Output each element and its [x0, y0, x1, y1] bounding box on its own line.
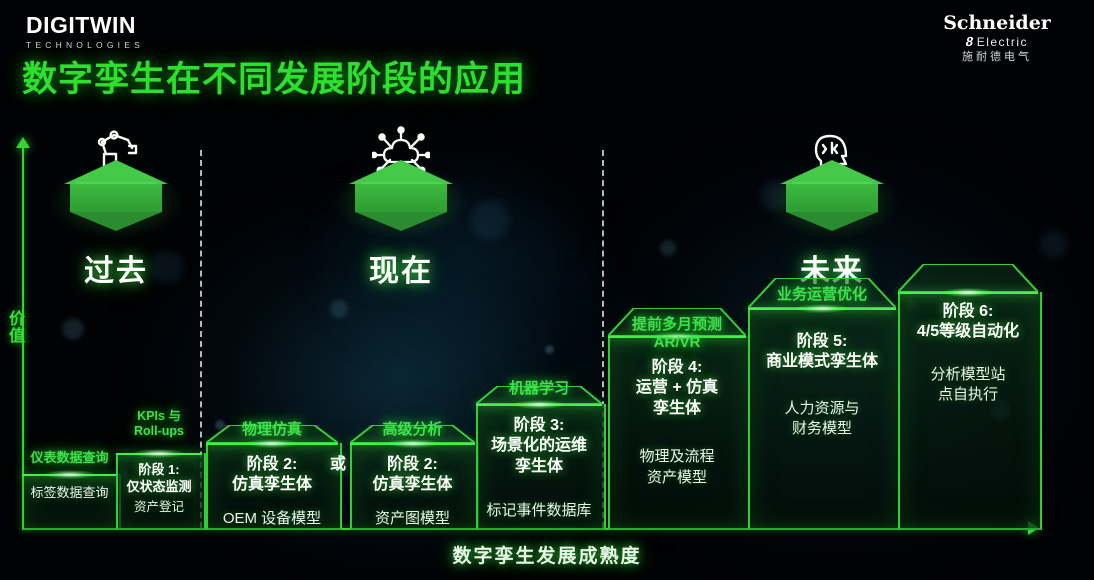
- step-header-label: KPIs 与Roll-ups: [116, 409, 202, 439]
- step-title: 阶段 2:仿真孪生体: [356, 455, 469, 496]
- bokeh-particle: [660, 240, 676, 256]
- step-subtext: 标记事件数据库: [482, 501, 596, 521]
- or-connector: 或: [330, 450, 346, 474]
- bokeh-particle: [545, 345, 554, 354]
- step-subtext: 人力资源与财务模型: [754, 399, 890, 440]
- step-baseline[interactable]: 仪表数据查询 标签数据查询: [22, 460, 117, 528]
- schneider-slash-icon: 8: [965, 35, 976, 48]
- bokeh-particle: [1040, 230, 1068, 258]
- era-cube-present: [349, 160, 453, 232]
- step-rim: [206, 443, 338, 445]
- value-axis-label: 价值: [6, 312, 28, 346]
- maturity-axis-label: 数字孪生发展成熟度: [0, 541, 1094, 568]
- step-rim: [476, 404, 602, 406]
- era-past: 过去: [64, 160, 168, 290]
- step-face: [22, 474, 121, 530]
- step-header-label: 业务运营优化: [748, 286, 896, 304]
- bokeh-particle: [62, 318, 84, 340]
- digitwin-logo: DIGITWIN TECHNOLOGIES: [26, 14, 144, 50]
- step-header-label: 物理仿真: [206, 421, 338, 439]
- step-body: 阶段 2:仿真孪生体 资产图模型: [350, 455, 475, 529]
- era-label-present: 现在: [349, 246, 453, 290]
- cube-top: [349, 160, 453, 184]
- step-header-label: 仪表数据查询: [22, 450, 117, 466]
- logo-wordmark: DIGITWIN: [26, 14, 144, 37]
- step-title: 阶段 6:4/5等级自动化: [904, 302, 1032, 343]
- step-body: 阶段 3:场景化的运维孪生体 标记事件数据库: [476, 416, 602, 522]
- schneider-electric-logo: Schneider 8Electric 施耐德电气: [922, 14, 1072, 63]
- step-5[interactable]: 提前多月预测AR/VR 阶段 4:运营 + 仿真孪生体 物理及流程资产模型: [608, 308, 746, 528]
- step-title: 阶段 3:场景化的运维孪生体: [482, 416, 596, 477]
- logo-tagline: TECHNOLOGIES: [26, 41, 144, 50]
- step-3[interactable]: 高级分析 阶段 2:仿真孪生体 资产图模型: [350, 425, 475, 528]
- era-future: 未来: [780, 160, 884, 290]
- step-6[interactable]: 业务运营优化 阶段 5:商业模式孪生体 人力资源与财务模型: [748, 278, 896, 528]
- electric-wordmark: 8Electric: [922, 35, 1072, 48]
- cube-body: [786, 184, 878, 212]
- bokeh-particle: [470, 200, 510, 240]
- schneider-chinese-name: 施耐德电气: [922, 52, 1072, 63]
- step-rim: [116, 453, 202, 455]
- bokeh-particle: [330, 300, 348, 318]
- cube-top: [780, 160, 884, 184]
- step-body: 标签数据查询: [22, 484, 117, 502]
- slide-canvas: DIGITWIN TECHNOLOGIES Schneider 8Electri…: [0, 0, 1094, 580]
- step-title: 阶段 4:运营 + 仿真孪生体: [614, 358, 740, 419]
- step-body: 阶段 6:4/5等级自动化 分析模型站点自执行: [898, 302, 1038, 405]
- step-2[interactable]: 物理仿真 阶段 2:仿真孪生体 OEM 设备模型: [206, 425, 338, 528]
- cube-top: [64, 160, 168, 184]
- cube-bottom: [355, 212, 447, 231]
- era-label-past: 过去: [64, 246, 168, 290]
- era-cube-past: [64, 160, 168, 232]
- step-title: 阶段 1:仅状态监测: [122, 462, 196, 495]
- era-cube-future: [780, 160, 884, 232]
- era-present: 现在: [349, 160, 453, 290]
- value-axis-arrow-icon: [16, 137, 30, 148]
- step-rim: [22, 474, 117, 476]
- schneider-wordmark: Schneider: [922, 14, 1072, 33]
- cube-body: [70, 184, 162, 212]
- step-body: 阶段 2:仿真孪生体 OEM 设备模型: [206, 455, 338, 529]
- step-title: 阶段 2:仿真孪生体: [212, 455, 332, 496]
- background-glow-center: [300, 130, 620, 390]
- step-4[interactable]: 机器学习 阶段 3:场景化的运维孪生体 标记事件数据库: [476, 386, 602, 528]
- step-subtext: OEM 设备模型: [212, 509, 332, 529]
- step-header-label: 高级分析: [350, 421, 475, 439]
- step-rim: [898, 292, 1038, 294]
- step-rim: [748, 308, 896, 310]
- step-body: 阶段 4:运营 + 仿真孪生体 物理及流程资产模型: [608, 358, 746, 488]
- step-subtext: 标签数据查询: [28, 484, 111, 502]
- step-1[interactable]: KPIs 与Roll-ups 阶段 1:仅状态监测 资产登记: [116, 440, 202, 528]
- step-body: 阶段 5:商业模式孪生体 人力资源与财务模型: [748, 332, 896, 439]
- cube-bottom: [70, 212, 162, 231]
- electric-text: Electric: [977, 35, 1028, 49]
- step-header-label: 提前多月预测AR/VR: [608, 316, 746, 352]
- step-7[interactable]: 阶段 6:4/5等级自动化 分析模型站点自执行: [898, 264, 1038, 528]
- step-subtext: 资产登记: [122, 499, 196, 516]
- page-title: 数字孪生在不同发展阶段的应用: [22, 60, 526, 99]
- cube-bottom: [786, 212, 878, 231]
- cube-body: [355, 184, 447, 212]
- step-title: 阶段 5:商业模式孪生体: [754, 332, 890, 373]
- step-subtext: 物理及流程资产模型: [614, 447, 740, 488]
- step-subtext: 资产图模型: [356, 509, 469, 529]
- step-header-label: 机器学习: [476, 380, 602, 398]
- step-body: 阶段 1:仅状态监测 资产登记: [116, 462, 202, 516]
- step-subtext: 分析模型站点自执行: [904, 365, 1032, 406]
- step-rim: [350, 443, 475, 445]
